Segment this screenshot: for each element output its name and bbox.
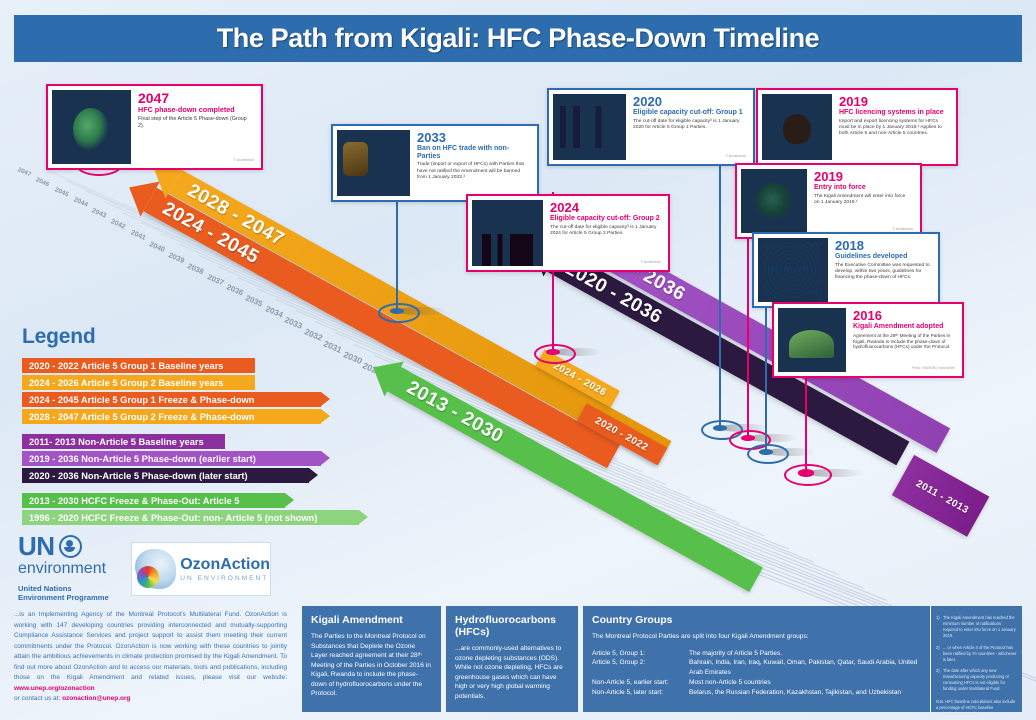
card-2019-entry-text: 2019Entry into forceThe Kigali Amendment… bbox=[807, 169, 916, 233]
legend-item-9-label: 1996 - 2020 HCFC Freeze & Phase-Out: non… bbox=[29, 513, 317, 523]
earth-photo bbox=[52, 90, 131, 164]
legend-item-8-arrow-icon bbox=[285, 493, 294, 507]
legend-item-2: 2024 - 2026 Article 5 Group 2 Baseline y… bbox=[22, 375, 255, 390]
card-2047-body: Final step of the Article 5 Phase-down (… bbox=[138, 116, 253, 130]
legend-item-7-arrow-icon bbox=[309, 468, 318, 482]
legend-item-2-label: 2024 - 2026 Article 5 Group 2 Baseline y… bbox=[29, 378, 223, 388]
card-2019-entry: 2019Entry into forceThe Kigali Amendment… bbox=[735, 163, 922, 239]
card-2020: 2020Eligible capacity cut-off: Group 1Th… bbox=[547, 88, 755, 166]
legend-item-9-arrow-icon bbox=[359, 510, 368, 524]
un-globe-icon bbox=[59, 535, 82, 558]
country-group-row-4-key: Non-Article 5, later start: bbox=[592, 688, 689, 698]
people-photo bbox=[762, 94, 832, 160]
info-box-kigali-title: Kigali Amendment bbox=[311, 614, 432, 626]
card-2019-entry-body: The Kigali Amendment will enter into for… bbox=[814, 194, 912, 206]
footnote-1-text: The Kigali Amendment has reached the min… bbox=[943, 615, 1017, 640]
country-group-row-2-value: Bahrain, India, Iran, Iraq, Kuwait, Oman… bbox=[689, 658, 921, 678]
chemical-plant-photo bbox=[553, 94, 626, 160]
card-2020-credit: © shutterstock bbox=[726, 155, 746, 159]
footnote-1-number: 1) bbox=[936, 615, 943, 640]
about-contact-lead: or contact us at: bbox=[14, 695, 62, 702]
card-2033-headline: Ban on HFC trade with non-Parties bbox=[417, 145, 529, 160]
card-2016-text: 2016Kigali Amendment adoptedAgreement at… bbox=[846, 308, 958, 372]
footnote-1: 1)The Kigali Amendment has reached the m… bbox=[936, 615, 1017, 640]
country-group-row-4-value: Belarus, the Russian Federation, Kazakhs… bbox=[689, 688, 901, 698]
country-group-row-1-value: The majority of Article 5 Parties. bbox=[689, 649, 782, 659]
un-wordmark: UN bbox=[18, 533, 55, 559]
legend-item-4: 2028 - 2047 Article 5 Group 2 Freeze & P… bbox=[22, 409, 321, 424]
card-2024: 2024Eligible capacity cut-off: Group 2Th… bbox=[466, 194, 670, 272]
footnotes-box: 1)The Kigali Amendment has reached the m… bbox=[930, 606, 1022, 712]
about-email-link[interactable]: ozonaction@unep.org bbox=[62, 695, 130, 702]
unep-subtitle: United NationsEnvironment Programme bbox=[18, 584, 109, 603]
info-box-hfcs-body: ...are commonly-used alternatives to ozo… bbox=[455, 644, 569, 701]
card-2024-credit: © shutterstock bbox=[641, 261, 661, 265]
green-cylinder-photo bbox=[337, 130, 410, 196]
info-box-hfcs-title: Hydrofluorocarbons (HFCs) bbox=[455, 614, 569, 638]
burning-earth-photo bbox=[741, 169, 807, 233]
about-ozonaction-text: ...is an Implementing Agency of the Mont… bbox=[14, 606, 287, 712]
card-2033-body: Trade (import or export of HFCs) with Pa… bbox=[417, 162, 529, 180]
legend-rows: 2020 - 2022 Article 5 Group 1 Baseline y… bbox=[22, 358, 352, 525]
card-2019-licencing-text: 2019HFC licencing systems in placeImport… bbox=[832, 94, 952, 160]
ozonaction-subtitle: UN ENVIRONMENT bbox=[180, 575, 270, 582]
about-website-link[interactable]: www.unep.org/ozonaction bbox=[14, 685, 95, 692]
legend-item-6-label: 2019 - 2036 Non-Article 5 Phase-down (ea… bbox=[29, 454, 256, 464]
info-box-country-groups-intro: The Montreal Protocol Parties are split … bbox=[592, 632, 921, 642]
card-2047: 2047HFC phase-down completedFinal step o… bbox=[46, 84, 263, 170]
country-group-row-3: Non-Article 5, earlier start:Most non-Ar… bbox=[592, 678, 921, 688]
country-group-row-3-key: Non-Article 5, earlier start: bbox=[592, 678, 689, 688]
card-2018-year: 2018 bbox=[835, 239, 930, 252]
legend-item-3-arrow-icon bbox=[321, 392, 330, 406]
card-2033-year: 2033 bbox=[417, 131, 529, 144]
country-group-row-2-key: Article 5, Group 2: bbox=[592, 658, 689, 678]
legend-item-4-label: 2028 - 2047 Article 5 Group 2 Freeze & P… bbox=[29, 412, 254, 422]
card-2016-headline: Kigali Amendment adopted bbox=[853, 323, 954, 331]
card-2024-year: 2024 bbox=[550, 201, 660, 214]
about-body: ...is an Implementing Agency of the Mont… bbox=[14, 611, 287, 681]
pin-2016-dot bbox=[798, 469, 815, 477]
footnote-3: 3)The date after which any new manufactu… bbox=[936, 668, 1017, 693]
country-groups-rows: Article 5, Group 1:The majority of Artic… bbox=[592, 649, 921, 698]
card-2016-body: Agreement at the 28ᵗʰ Meeting of the Par… bbox=[853, 333, 954, 351]
legend-item-6-arrow-icon bbox=[321, 451, 330, 465]
legend-item-6: 2019 - 2036 Non-Article 5 Phase-down (ea… bbox=[22, 451, 321, 466]
legend-item-3-label: 2024 - 2045 Article 5 Group 1 Freeze & P… bbox=[29, 395, 254, 405]
kigali-convention-centre-photo bbox=[778, 308, 846, 372]
card-2033-text: 2033Ban on HFC trade with non-PartiesTra… bbox=[410, 130, 533, 196]
footnote-note: N.B. HFC baseline calculations also incl… bbox=[936, 699, 1017, 717]
un-environment-wordmark: environment bbox=[18, 560, 109, 578]
infographic-canvas: The Path from Kigali: HFC Phase-Down Tim… bbox=[0, 0, 1036, 720]
card-2018-body: The Executive Committee was requested to… bbox=[835, 263, 930, 281]
card-2019-licencing-headline: HFC licencing systems in place bbox=[839, 109, 948, 117]
multilateral-fund-logo: Multilateral Fund bbox=[758, 238, 828, 302]
card-2019-licencing: 2019HFC licencing systems in placeImport… bbox=[756, 88, 958, 166]
card-2024-body: The cut-off date for eligible capacity³ … bbox=[550, 225, 660, 237]
card-2019-licencing-year: 2019 bbox=[839, 95, 948, 108]
legend-item-1-label: 2020 - 2022 Article 5 Group 1 Baseline y… bbox=[29, 361, 223, 371]
ozonaction-logo: OzonAction UN ENVIRONMENT bbox=[131, 542, 271, 596]
country-group-row-1-key: Article 5, Group 1: bbox=[592, 649, 689, 659]
footnote-2-text: ... or when Article 4 of the Protocol ha… bbox=[943, 645, 1017, 663]
legend-item-8-label: 2013 - 2030 HCFC Freeze & Phase-Out: Art… bbox=[29, 496, 239, 506]
purple-factory-photo bbox=[472, 200, 543, 266]
info-box-country-groups-title: Country Groups bbox=[592, 614, 921, 626]
legend-item-5-label: 2011- 2013 Non-Article 5 Baseline years bbox=[29, 437, 204, 447]
legend-item-3: 2024 - 2045 Article 5 Group 1 Freeze & P… bbox=[22, 392, 321, 407]
legend-item-1: 2020 - 2022 Article 5 Group 1 Baseline y… bbox=[22, 358, 255, 373]
ozonaction-hand-icon bbox=[135, 549, 176, 589]
card-2019-licencing-body: Import and export licencing systems for … bbox=[839, 119, 948, 137]
legend-item-9: 1996 - 2020 HCFC Freeze & Phase-Out: non… bbox=[22, 510, 359, 525]
footnote-3-number: 3) bbox=[936, 668, 943, 693]
card-2016-year: 2016 bbox=[853, 309, 954, 322]
info-box-hfcs: Hydrofluorocarbons (HFCs) ...are commonl… bbox=[446, 606, 578, 712]
legend-item-7: 2020 - 2036 Non-Article 5 Phase-down (la… bbox=[22, 468, 309, 483]
footnote-list: 1)The Kigali Amendment has reached the m… bbox=[936, 615, 1017, 693]
bottom-info-strip: ...is an Implementing Agency of the Mont… bbox=[14, 606, 1022, 712]
country-group-row-2: Article 5, Group 2:Bahrain, India, Iran,… bbox=[592, 658, 921, 678]
legend-heading: Legend bbox=[22, 325, 352, 349]
card-2020-year: 2020 bbox=[633, 95, 745, 108]
info-box-kigali-amendment: Kigali Amendment The Parties to the Mont… bbox=[302, 606, 441, 712]
card-2018: Multilateral Fund2018Guidelines develope… bbox=[752, 232, 940, 308]
card-2020-body: The cut-off date for eligible capacity³ … bbox=[633, 119, 745, 131]
card-2047-text: 2047HFC phase-down completedFinal step o… bbox=[131, 90, 257, 164]
multilateral-fund-wordmark: Multilateral Fund bbox=[767, 267, 818, 273]
card-2020-headline: Eligible capacity cut-off: Group 1 bbox=[633, 109, 745, 117]
un-environment-logo: UN environment United NationsEnvironment… bbox=[18, 533, 109, 603]
legend-item-7-label: 2020 - 2036 Non-Article 5 Phase-down (la… bbox=[29, 471, 248, 481]
card-2047-headline: HFC phase-down completed bbox=[138, 106, 253, 114]
card-2024-headline: Eligible capacity cut-off: Group 2 bbox=[550, 215, 660, 223]
card-2016: 2016Kigali Amendment adoptedAgreement at… bbox=[772, 302, 964, 378]
info-box-country-groups: Country Groups The Montreal Protocol Par… bbox=[583, 606, 930, 712]
card-2047-credit: © shutterstock bbox=[234, 159, 254, 163]
legend-item-5: 2011- 2013 Non-Article 5 Baseline years bbox=[22, 434, 225, 449]
info-box-kigali-body: The Parties to the Montreal Protocol on … bbox=[311, 632, 432, 699]
country-group-row-4: Non-Article 5, later start:Belarus, the … bbox=[592, 688, 921, 698]
card-2016-credit: Photo: IISD/ENB | Kiara Worth bbox=[912, 367, 955, 371]
logo-group: UN environment United NationsEnvironment… bbox=[18, 533, 288, 603]
legend-item-4-arrow-icon bbox=[321, 409, 330, 423]
footnote-3-text: The date after which any new manufacturi… bbox=[943, 668, 1017, 693]
card-2047-year: 2047 bbox=[138, 91, 253, 105]
card-2018-text: 2018Guidelines developedThe Executive Co… bbox=[828, 238, 934, 302]
footnote-2-number: 2) bbox=[936, 645, 943, 663]
footnote-2: 2)... or when Article 4 of the Protocol … bbox=[936, 645, 1017, 663]
card-2024-text: 2024Eligible capacity cut-off: Group 2Th… bbox=[543, 200, 664, 266]
legend-item-8: 2013 - 2030 HCFC Freeze & Phase-Out: Art… bbox=[22, 493, 285, 508]
legend: Legend 2020 - 2022 Article 5 Group 1 Bas… bbox=[22, 325, 352, 527]
card-2033: 2033Ban on HFC trade with non-PartiesTra… bbox=[331, 124, 539, 202]
country-group-row-3-value: Most non-Article 5 countries bbox=[689, 678, 771, 688]
card-2018-headline: Guidelines developed bbox=[835, 253, 930, 261]
card-2019-entry-year: 2019 bbox=[814, 170, 912, 183]
ozonaction-wordmark: OzonAction bbox=[180, 557, 270, 573]
country-group-row-1: Article 5, Group 1:The majority of Artic… bbox=[592, 649, 921, 659]
card-2019-entry-headline: Entry into force bbox=[814, 184, 912, 192]
card-2020-text: 2020Eligible capacity cut-off: Group 1Th… bbox=[626, 94, 749, 160]
